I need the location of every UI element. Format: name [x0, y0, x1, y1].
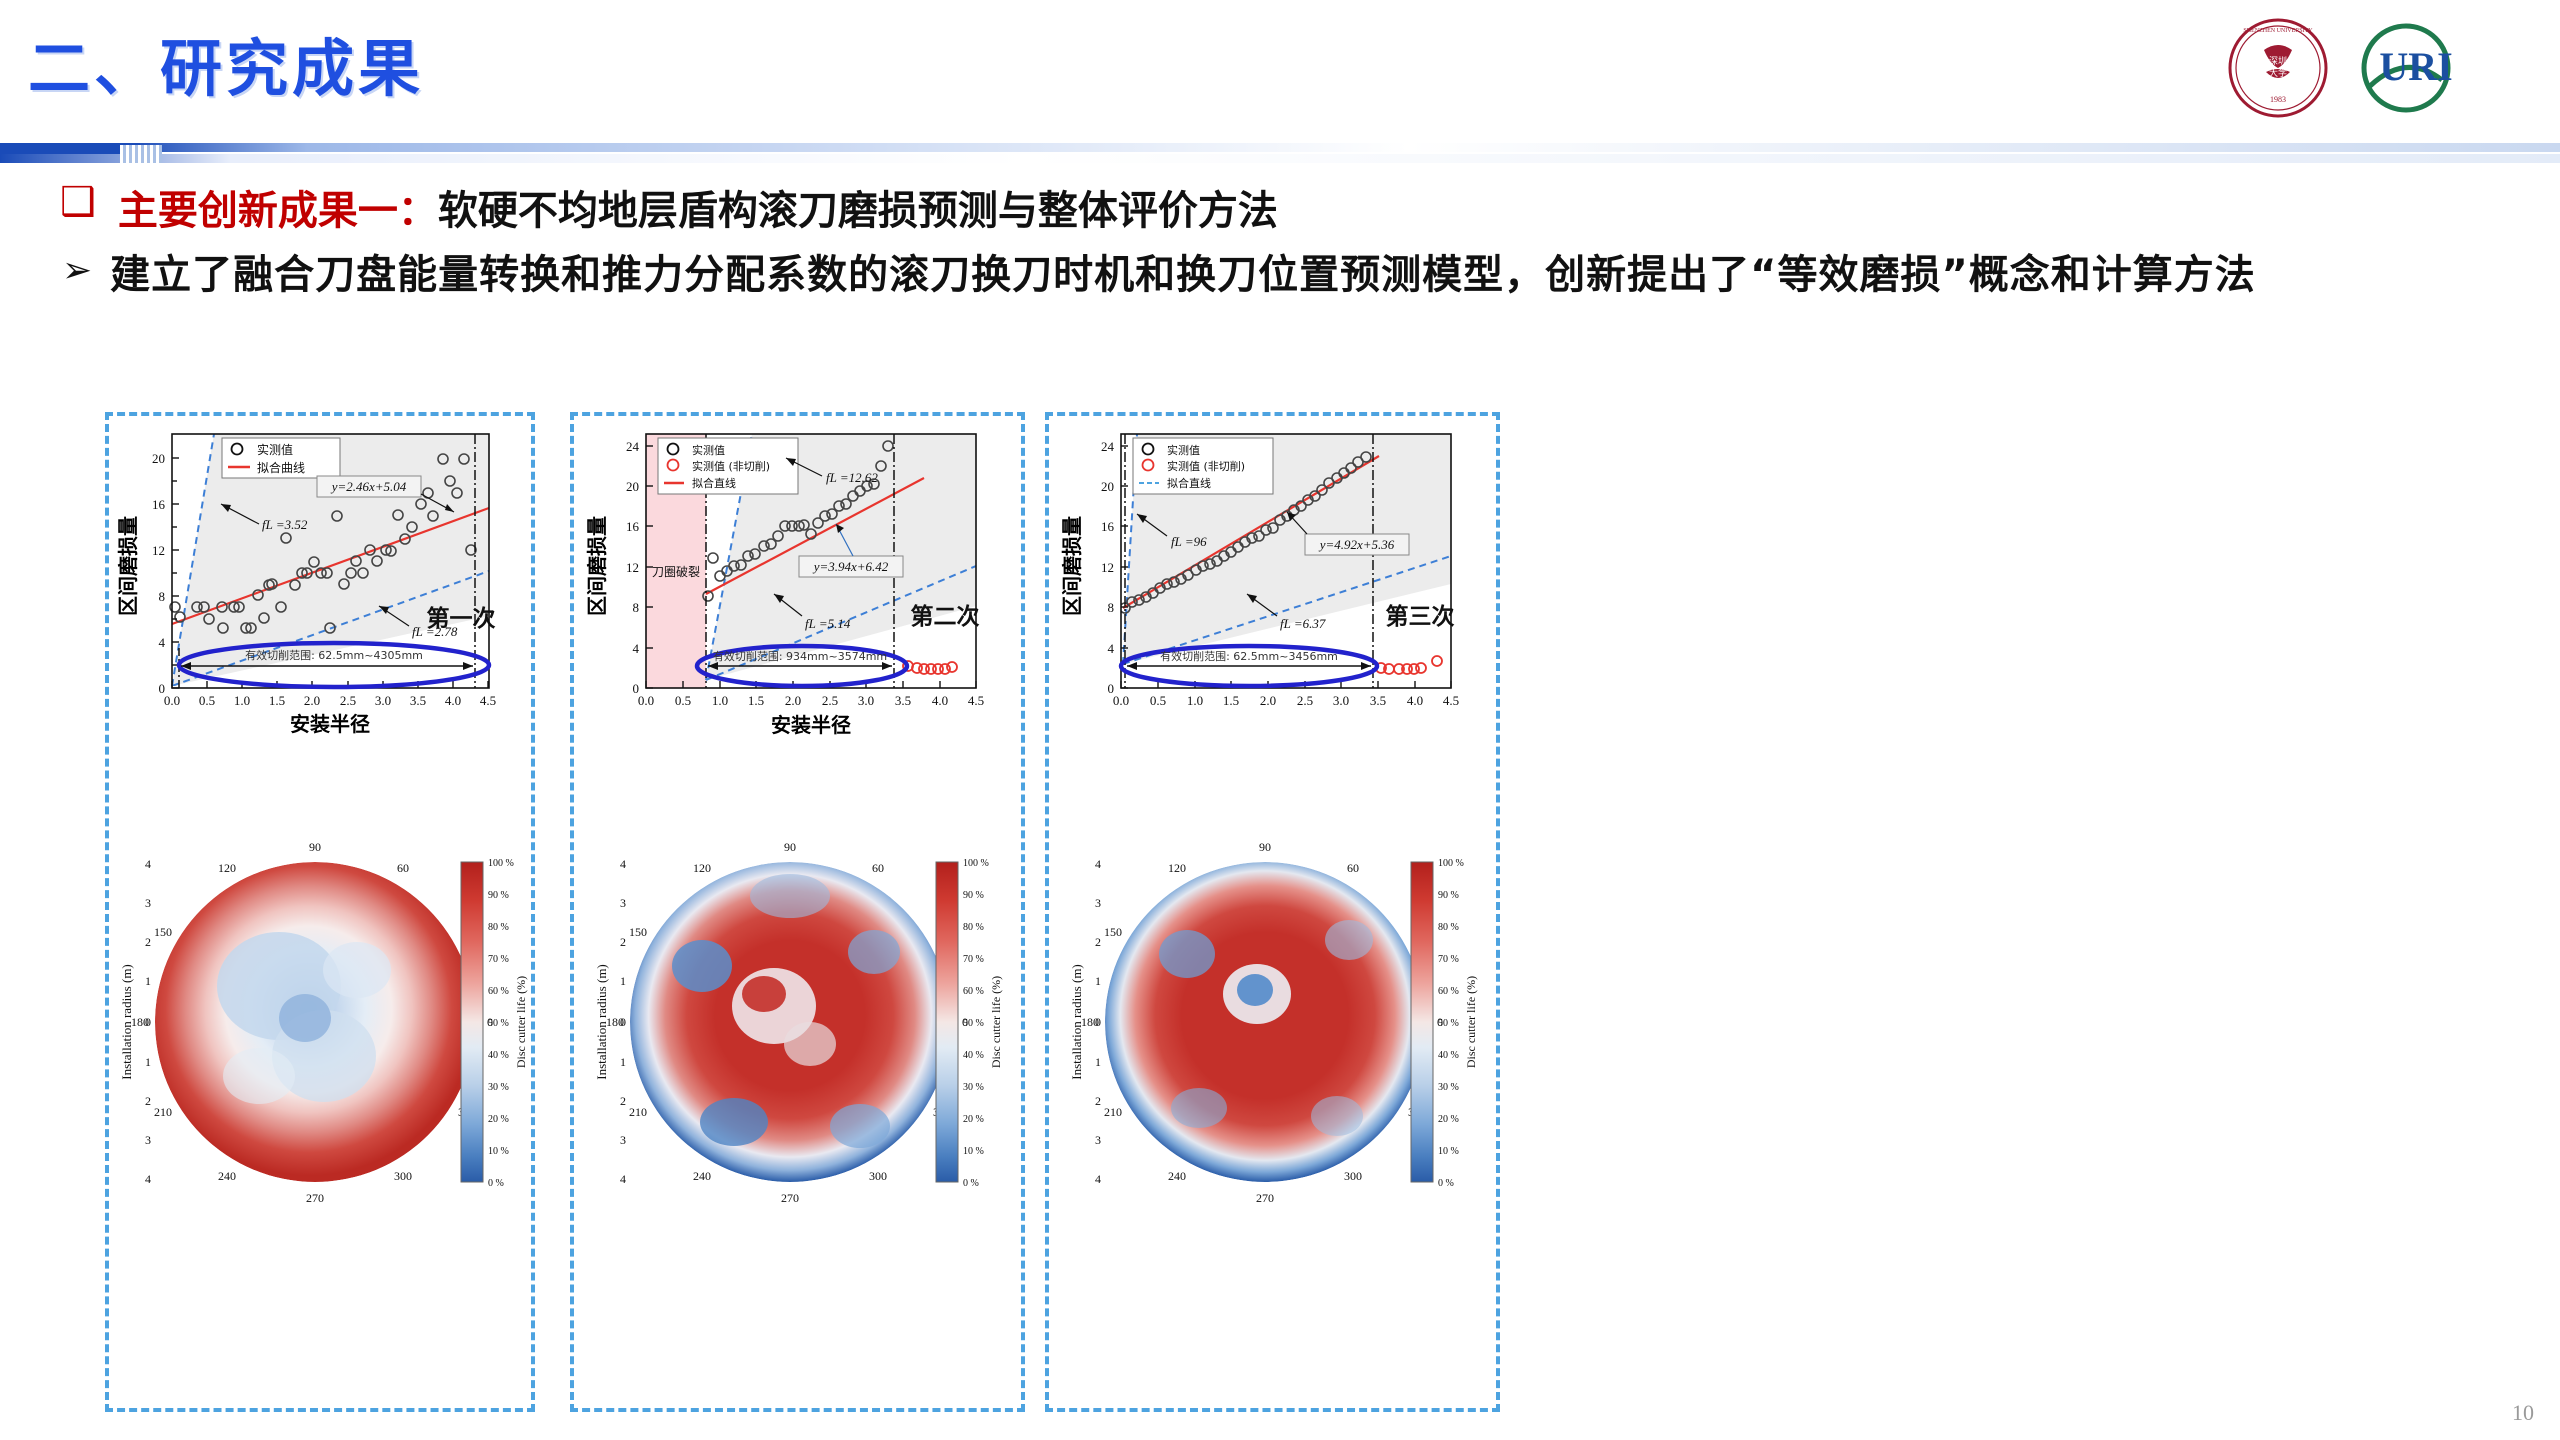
y-tick-label: 4: [633, 641, 640, 656]
svg-text:0 %: 0 %: [963, 1178, 979, 1189]
svg-text:4: 4: [145, 1172, 151, 1186]
logo-area: 深圳 大学 1983 SHENZHEN UNIVERSITY URI: [2220, 14, 2520, 122]
svg-text:深圳: 深圳: [2269, 56, 2287, 67]
svg-text:30 %: 30 %: [1438, 1082, 1459, 1093]
svg-text:4: 4: [620, 1172, 626, 1186]
svg-text:60: 60: [1347, 861, 1359, 875]
x-tick-label: 1.0: [712, 693, 728, 708]
colorbar-ticks-2: 100 % 90 % 80 % 70 % 60 % 50 % 40 % 30 %…: [963, 858, 989, 1189]
svg-text:3: 3: [620, 896, 626, 910]
x-tick-label: 2.5: [340, 693, 356, 708]
university-seal-icon: 深圳 大学 1983 SHENZHEN UNIVERSITY: [2230, 20, 2326, 116]
svg-text:300: 300: [394, 1169, 412, 1183]
x-tick-label: 2.5: [822, 693, 838, 708]
svg-text:100 %: 100 %: [488, 858, 514, 869]
partner-logo-icon: URI: [2364, 26, 2453, 110]
annotation-label: y=2.46x+5.04: [330, 479, 407, 494]
polar-heatmap-surface-1: [155, 862, 475, 1182]
svg-text:SHENZHEN UNIVERSITY: SHENZHEN UNIVERSITY: [2243, 28, 2313, 34]
y-tick-label: 12: [1101, 560, 1114, 575]
bullet-2-body: 建立了融合刀盘能量转换和推力分配系数的滚刀换刀时机和换刀位置预测模型，创新提出了…: [110, 245, 2256, 305]
x-tick-label: 4.0: [445, 693, 461, 708]
result-panel-second-pass: 刀圈破裂: [570, 412, 1025, 1412]
y-tick-label: 4: [159, 635, 166, 650]
chart-polar-1: 0 30 60 90 120 150 180 210 240 270 300 3…: [109, 756, 531, 1396]
x-tick-label: 1.5: [269, 693, 285, 708]
chart-legend-3: 实测值 实测值 (非切削) 拟合直线: [1133, 438, 1273, 494]
y-tick-label: 12: [626, 560, 639, 575]
svg-text:90 %: 90 %: [1438, 890, 1459, 901]
svg-text:2: 2: [620, 935, 626, 949]
bullet-marker-arrow: ➢: [62, 251, 92, 291]
legend-label: 实测值: [257, 442, 293, 457]
annotation-label: y=4.92x+5.36: [1318, 537, 1395, 552]
colorbar-title-2: Disc cutter life (%): [989, 976, 1003, 1068]
svg-text:3: 3: [1095, 1133, 1101, 1147]
svg-text:2: 2: [620, 1094, 626, 1108]
bullet-marker-square: ❑: [60, 182, 96, 222]
svg-text:4: 4: [1095, 1172, 1101, 1186]
x-axis-title: 安装半径: [290, 712, 370, 736]
legend-label: 拟合直线: [1167, 476, 1211, 490]
svg-text:2: 2: [1095, 1094, 1101, 1108]
svg-text:1: 1: [620, 1055, 626, 1069]
colorbar-title-1: Disc cutter life (%): [514, 976, 528, 1068]
svg-text:2: 2: [145, 935, 151, 949]
svg-text:210: 210: [154, 1105, 172, 1119]
y-tick-label: 0: [633, 681, 640, 696]
x-tick-label: 3.0: [375, 693, 391, 708]
x-tick-label: 3.0: [858, 693, 874, 708]
chart-polar-2: 0 30 60 90 120 150 180 210 240 270 300 3…: [574, 756, 1021, 1396]
svg-text:3: 3: [620, 1133, 626, 1147]
x-tick-label: 2.0: [1260, 693, 1276, 708]
polar-y-axis-title-2: Installation radius (m): [594, 964, 609, 1080]
y-tick-label: 8: [159, 589, 166, 604]
svg-text:80 %: 80 %: [963, 922, 984, 933]
legend-label: 实测值: [1167, 443, 1200, 457]
svg-text:20 %: 20 %: [1438, 1114, 1459, 1125]
x-axis-title: 安装半径: [771, 713, 851, 737]
svg-text:4: 4: [1095, 857, 1101, 871]
x-tick-label: 3.5: [410, 693, 426, 708]
chart-caption-3: 第三次: [1386, 603, 1455, 630]
svg-text:1: 1: [145, 974, 151, 988]
y-tick-label: 16: [626, 519, 640, 534]
chart-scatter-1: 0.0 0.5 1.0 1.5 2.0 2.5 3.0 3.5 4.0 4.5 …: [109, 416, 531, 746]
result-panel-first-pass: 0.0 0.5 1.0 1.5 2.0 2.5 3.0 3.5 4.0 4.5 …: [105, 412, 535, 1412]
x-tick-label: 1.5: [748, 693, 764, 708]
svg-text:100 %: 100 %: [1438, 858, 1464, 869]
page-number: 10: [2512, 1400, 2534, 1426]
zone-label-2: 刀圈破裂: [652, 564, 700, 579]
svg-text:3: 3: [145, 1133, 151, 1147]
svg-text:40 %: 40 %: [963, 1050, 984, 1061]
y-tick-label: 16: [152, 497, 166, 512]
x-tick-label: 0.5: [199, 693, 215, 708]
legend-label: 实测值: [692, 443, 725, 457]
svg-text:300: 300: [1344, 1169, 1362, 1183]
y-tick-label: 20: [1101, 479, 1114, 494]
svg-text:90: 90: [784, 840, 796, 854]
chart-scatter-3: 0.0 0.5 1.0 1.5 2.0 2.5 3.0 3.5 4.0 4.5 …: [1049, 416, 1496, 746]
svg-text:210: 210: [1104, 1105, 1122, 1119]
svg-text:120: 120: [218, 861, 236, 875]
chart-caption-1: 第一次: [427, 605, 496, 632]
x-tick-label: 4.5: [480, 693, 496, 708]
x-tick-label: 0.0: [638, 693, 654, 708]
annotation-label: fL =12.62: [826, 470, 878, 485]
bullet-item-2: ➢ 建立了融合刀盘能量转换和推力分配系数的滚刀换刀时机和换刀位置预测模型，创新提…: [62, 245, 2482, 305]
y-tick-label: 20: [152, 451, 165, 466]
colorbar-title-3: Disc cutter life (%): [1464, 976, 1478, 1068]
y-tick-label: 24: [1101, 439, 1115, 454]
svg-text:40 %: 40 %: [1438, 1050, 1459, 1061]
svg-text:90: 90: [309, 840, 321, 854]
svg-text:150: 150: [154, 925, 172, 939]
x-tick-label: 2.0: [304, 693, 320, 708]
svg-text:30 %: 30 %: [963, 1082, 984, 1093]
bullet-item-1: ❑ 主要创新成果一：软硬不均地层盾构滚刀磨损预测与整体评价方法: [60, 178, 1278, 236]
svg-text:1: 1: [1095, 974, 1101, 988]
svg-text:90: 90: [1259, 840, 1271, 854]
y-axis-title: 区间磨损量: [585, 516, 609, 616]
svg-text:大学: 大学: [2269, 67, 2287, 79]
polar-radial-ticks-1: 4 3 2 1 0 1 2 3 4: [145, 857, 151, 1186]
svg-text:240: 240: [693, 1169, 711, 1183]
legend-label: 实测值 (非切削): [692, 459, 770, 473]
x-tick-label: 0.0: [1113, 693, 1129, 708]
x-tick-label: 2.0: [785, 693, 801, 708]
bullet-1-body: 软硬不均地层盾构滚刀磨损预测与整体评价方法: [438, 188, 1278, 234]
colorbar-ticks-1: 100 % 90 % 80 % 70 % 60 % 50 % 40 % 30 %…: [488, 858, 514, 1189]
x-tick-label: 0.5: [1150, 693, 1166, 708]
svg-text:2: 2: [145, 1094, 151, 1108]
header-divider-lower: [0, 154, 2560, 163]
svg-text:120: 120: [1168, 861, 1186, 875]
chart-scatter-2: 刀圈破裂: [574, 416, 1021, 746]
x-tick-label: 4.5: [968, 693, 984, 708]
svg-text:60 %: 60 %: [963, 986, 984, 997]
noncut-points-3: [1376, 656, 1442, 674]
svg-text:70 %: 70 %: [963, 954, 984, 965]
colorbar-3: [1411, 862, 1433, 1182]
colorbar-ticks-3: 100 % 90 % 80 % 70 % 60 % 50 % 40 % 30 %…: [1438, 858, 1464, 1189]
svg-text:270: 270: [1256, 1191, 1274, 1205]
x-tick-label: 4.0: [932, 693, 948, 708]
y-tick-label: 24: [626, 439, 640, 454]
svg-text:90 %: 90 %: [963, 890, 984, 901]
legend-label: 拟合曲线: [257, 460, 305, 475]
svg-text:40 %: 40 %: [488, 1050, 509, 1061]
svg-text:20 %: 20 %: [963, 1114, 984, 1125]
svg-text:70 %: 70 %: [488, 954, 509, 965]
noncut-points-2: [903, 661, 957, 674]
svg-text:10 %: 10 %: [1438, 1146, 1459, 1157]
svg-text:20 %: 20 %: [488, 1114, 509, 1125]
svg-text:50 %: 50 %: [488, 1018, 509, 1029]
range-indicator-3: 有效切削范围: 62.5mm~3456mm: [1127, 649, 1371, 670]
polar-radial-ticks-2: 4 3 2 1 0 1 2 3 4: [620, 857, 626, 1186]
svg-text:70 %: 70 %: [1438, 954, 1459, 965]
svg-text:1983: 1983: [2270, 95, 2286, 104]
svg-text:300: 300: [869, 1169, 887, 1183]
header-divider-hatch: [120, 145, 162, 163]
y-tick-label: 20: [626, 479, 639, 494]
chart-polar-3: 0 30 60 90 120 150 180 210 240 270 300 3…: [1049, 756, 1496, 1396]
svg-text:90 %: 90 %: [488, 890, 509, 901]
annotation-label: fL =5.14: [805, 616, 851, 631]
svg-text:URI: URI: [2379, 44, 2452, 89]
svg-text:2: 2: [1095, 935, 1101, 949]
svg-text:50 %: 50 %: [963, 1018, 984, 1029]
svg-text:150: 150: [1104, 925, 1122, 939]
svg-text:0: 0: [1095, 1015, 1101, 1029]
result-panel-third-pass: 0.0 0.5 1.0 1.5 2.0 2.5 3.0 3.5 4.0 4.5 …: [1045, 412, 1500, 1412]
svg-text:210: 210: [629, 1105, 647, 1119]
x-tick-label: 3.5: [895, 693, 911, 708]
chart-legend-2: 实测值 实测值 (非切削) 拟合直线: [658, 438, 798, 494]
y-tick-label: 4: [1108, 641, 1115, 656]
header-divider: [0, 143, 2560, 165]
svg-text:50 %: 50 %: [1438, 1018, 1459, 1029]
x-tick-label: 0.5: [675, 693, 691, 708]
colorbar-2: [936, 862, 958, 1182]
x-tick-label: 4.0: [1407, 693, 1423, 708]
y-tick-label: 8: [1108, 600, 1115, 615]
x-tick-label: 3.0: [1333, 693, 1349, 708]
svg-text:80 %: 80 %: [1438, 922, 1459, 933]
polar-heatmap-surface-3: [1105, 862, 1425, 1182]
svg-text:10 %: 10 %: [488, 1146, 509, 1157]
x-tick-label: 1.0: [234, 693, 250, 708]
x-tick-label: 2.5: [1297, 693, 1313, 708]
svg-text:240: 240: [218, 1169, 236, 1183]
svg-text:4: 4: [620, 857, 626, 871]
annotation-label: y=3.94x+6.42: [812, 559, 889, 574]
polar-radial-ticks-3: 4 3 2 1 0 1 2 3 4: [1095, 857, 1101, 1186]
svg-text:4: 4: [145, 857, 151, 871]
polar-heatmap-surface-2: [630, 862, 950, 1182]
bullet-1-emphasis: 主要创新成果一：: [118, 188, 438, 234]
polar-y-axis-title-1: Installation radius (m): [119, 964, 134, 1080]
svg-text:120: 120: [693, 861, 711, 875]
svg-text:3: 3: [1095, 896, 1101, 910]
annotation-label: 有效切削范围: 934mm~3574mm: [713, 649, 887, 663]
svg-text:10 %: 10 %: [963, 1146, 984, 1157]
page-title: 二、研究成果: [28, 18, 424, 108]
svg-text:150: 150: [629, 925, 647, 939]
colorbar-1: [461, 862, 483, 1182]
svg-text:3: 3: [145, 896, 151, 910]
polar-y-axis-title-3: Installation radius (m): [1069, 964, 1084, 1080]
svg-text:0 %: 0 %: [1438, 1178, 1454, 1189]
svg-text:1: 1: [145, 1055, 151, 1069]
y-tick-label: 0: [1108, 681, 1115, 696]
annotation-label: fL =3.52: [262, 517, 308, 532]
svg-text:270: 270: [306, 1191, 324, 1205]
y-axis-title: 区间磨损量: [116, 516, 140, 616]
x-tick-label: 3.5: [1370, 693, 1386, 708]
svg-text:1: 1: [620, 974, 626, 988]
svg-text:80 %: 80 %: [488, 922, 509, 933]
svg-text:60 %: 60 %: [1438, 986, 1459, 997]
annotation-label: fL =6.37: [1280, 616, 1326, 631]
header-divider-accent: [0, 143, 140, 154]
chart-legend-1: 实测值 拟合曲线: [222, 438, 340, 478]
svg-text:60: 60: [872, 861, 884, 875]
svg-text:60: 60: [397, 861, 409, 875]
svg-text:30 %: 30 %: [488, 1082, 509, 1093]
svg-text:100 %: 100 %: [963, 858, 989, 869]
y-tick-label: 16: [1101, 519, 1115, 534]
header-divider-gradient: [0, 143, 2560, 152]
svg-text:240: 240: [1168, 1169, 1186, 1183]
svg-text:0: 0: [620, 1015, 626, 1029]
legend-label: 拟合直线: [692, 476, 736, 490]
annotation-label: 有效切削范围: 62.5mm~4305mm: [245, 648, 423, 662]
legend-label: 实测值 (非切削): [1167, 459, 1245, 473]
x-tick-label: 1.5: [1223, 693, 1239, 708]
x-tick-label: 1.0: [1187, 693, 1203, 708]
y-axis-title: 区间磨损量: [1060, 516, 1084, 616]
svg-text:0 %: 0 %: [488, 1178, 504, 1189]
annotation-label: fL =96: [1171, 534, 1207, 549]
chart-caption-2: 第二次: [911, 603, 980, 630]
svg-text:60 %: 60 %: [488, 986, 509, 997]
x-tick-label: 4.5: [1443, 693, 1459, 708]
annotation-label: 有效切削范围: 62.5mm~3456mm: [1160, 649, 1338, 663]
svg-text:0: 0: [145, 1015, 151, 1029]
y-tick-label: 0: [159, 681, 166, 696]
svg-text:270: 270: [781, 1191, 799, 1205]
svg-text:1: 1: [1095, 1055, 1101, 1069]
x-tick-label: 0.0: [164, 693, 180, 708]
y-tick-label: 12: [152, 543, 165, 558]
y-tick-label: 8: [633, 600, 640, 615]
